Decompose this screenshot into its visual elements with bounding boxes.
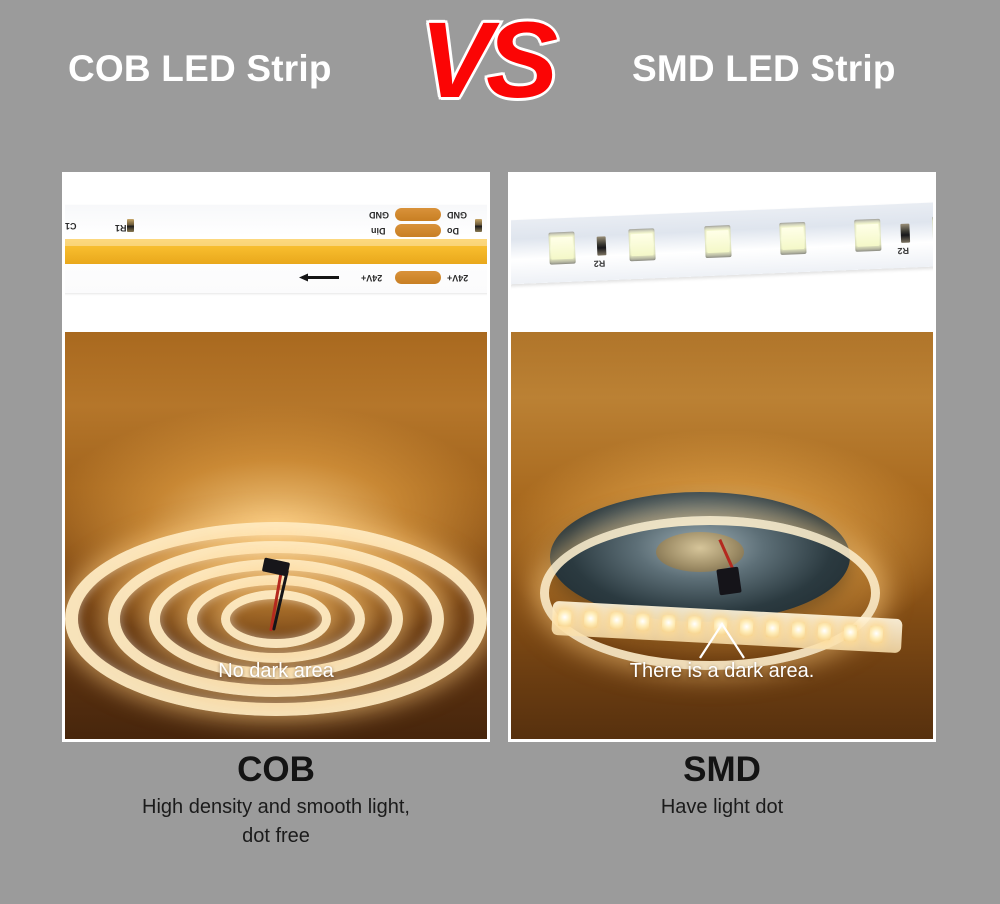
smd-led-chip: [779, 222, 806, 255]
cob-photo-caption: No dark area: [65, 660, 487, 683]
footer-column-smd: SMD Have light dot: [508, 750, 936, 822]
header-title-cob: COB LED Strip: [68, 48, 332, 90]
cob-phosphor-line: [65, 239, 487, 264]
footer-title-cob: COB: [62, 750, 490, 789]
jst-connector-icon: [716, 567, 741, 596]
chip-resistor-icon: [475, 219, 482, 232]
cob-pcb-board: C1 R1 GND GND Din Do 24V+ 24V+: [65, 205, 487, 293]
smd-led-chip: [704, 225, 731, 258]
smd-led-chip: [854, 219, 881, 252]
cob-coil-graphic: [66, 504, 486, 734]
pcb-label-gnd-left: GND: [369, 210, 389, 220]
smd-strip-macro-photo: R2 R2: [511, 175, 933, 332]
pcb-label-gnd-right: GND: [447, 210, 467, 220]
pcb-label-24v-right: 24V+: [447, 273, 468, 283]
cob-lit-coil-photo: No dark area: [65, 332, 487, 742]
footer-title-smd: SMD: [508, 750, 936, 789]
smd-led-chip: [932, 216, 933, 249]
pcb-label-r2: R2: [897, 246, 909, 256]
smd-led-chip: [548, 232, 575, 265]
smd-led-chip: [628, 228, 655, 261]
caret-up-icon: [696, 620, 748, 660]
smd-reel-graphic: [522, 482, 922, 732]
chip-resistor-icon: [597, 236, 607, 255]
comparison-panel-cob: C1 R1 GND GND Din Do 24V+ 24V+: [62, 172, 490, 742]
footer-column-cob: COB High density and smooth light, dot f…: [62, 750, 490, 851]
footer-subtitle-smd: Have light dot: [508, 793, 936, 822]
footer-subtitle-cob: High density and smooth light, dot free: [62, 793, 490, 851]
pcb-label-r1: R1: [115, 223, 127, 233]
smd-lit-reel-photo: There is a dark area.: [511, 332, 933, 742]
cob-strip-macro-photo: C1 R1 GND GND Din Do 24V+ 24V+: [65, 175, 487, 332]
solder-pad-24v: [395, 271, 441, 284]
smd-photo-caption: There is a dark area.: [511, 660, 933, 683]
solder-pad-gnd: [395, 208, 441, 221]
pcb-label-din: Din: [371, 226, 386, 236]
header-bar: COB LED Strip VS SMD LED Strip: [0, 0, 1000, 150]
pcb-label-do: Do: [447, 226, 459, 236]
comparison-panel-smd: R2 R2: [508, 172, 936, 742]
pcb-label-c1: C1: [65, 221, 77, 231]
vs-label: VS: [420, 0, 552, 120]
vs-badge: VS: [420, 6, 552, 114]
chip-resistor-icon: [127, 219, 134, 232]
direction-arrow-icon: [299, 273, 339, 282]
header-title-smd: SMD LED Strip: [632, 48, 896, 90]
pcb-label-r2: R2: [594, 258, 606, 268]
smd-pcb-board: R2 R2: [511, 201, 933, 285]
solder-pad-data: [395, 224, 441, 237]
chip-resistor-icon: [900, 224, 910, 243]
pcb-label-24v-left: 24V+: [361, 273, 382, 283]
